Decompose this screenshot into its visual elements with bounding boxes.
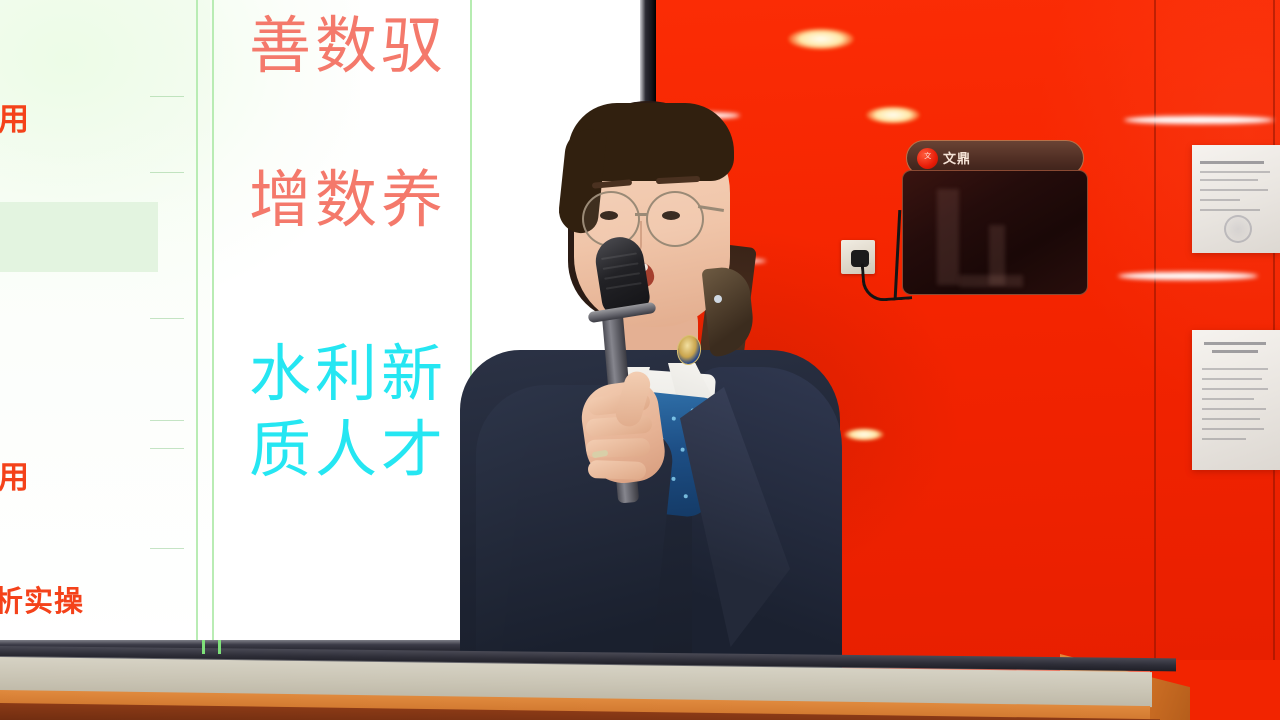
slide-headline-column: 善数驭 增数养 水利新 质人才	[212, 0, 470, 648]
display-panel-screen[interactable]	[902, 170, 1088, 295]
slide-headline-line: 增数养	[228, 168, 468, 235]
outline-item: 分分析实操	[0, 588, 184, 617]
brand-logo-icon: 文	[917, 148, 938, 169]
slide-headline-line: 水利新	[228, 342, 468, 409]
desk-object	[218, 640, 221, 654]
screen-reflection	[959, 275, 1023, 287]
speaker	[470, 95, 830, 695]
brand-logo-text: 文	[917, 153, 938, 160]
outline-item: 算	[0, 356, 184, 387]
official-seal-icon	[1224, 215, 1252, 243]
slide-headline-line: 善数驭	[228, 14, 468, 81]
ceiling-light-glare	[844, 428, 884, 441]
display-panel-label: 文鼎	[943, 150, 971, 168]
desk-object	[202, 640, 205, 654]
slide-outline-column: 分应用 原理 算 分应用 分分析实操	[0, 0, 196, 648]
certificate-poster	[1192, 145, 1280, 253]
light-reflection-streak	[1124, 116, 1274, 124]
ceiling-light-glare	[866, 106, 920, 124]
earring	[714, 295, 722, 303]
outline-item-active: 原理	[0, 228, 184, 259]
outline-item: 分应用	[0, 104, 184, 135]
finger	[588, 460, 647, 480]
slide-divider-line	[196, 0, 198, 648]
screen-reflection	[937, 189, 959, 285]
slide-headline-line: 质人才	[228, 418, 468, 485]
wall-panel-seam	[1154, 0, 1156, 660]
lectern	[0, 646, 1280, 720]
outline-item: 分应用	[0, 462, 184, 493]
ceiling-light-glare	[788, 28, 854, 50]
glasses-bridge	[635, 213, 648, 216]
screenshot-stage: 文 文鼎	[0, 0, 1280, 720]
wall-display-panel[interactable]: 文 文鼎	[902, 140, 1088, 302]
light-reflection-streak	[1118, 272, 1258, 280]
glasses-lens-right	[646, 191, 704, 247]
notice-poster	[1192, 330, 1280, 470]
